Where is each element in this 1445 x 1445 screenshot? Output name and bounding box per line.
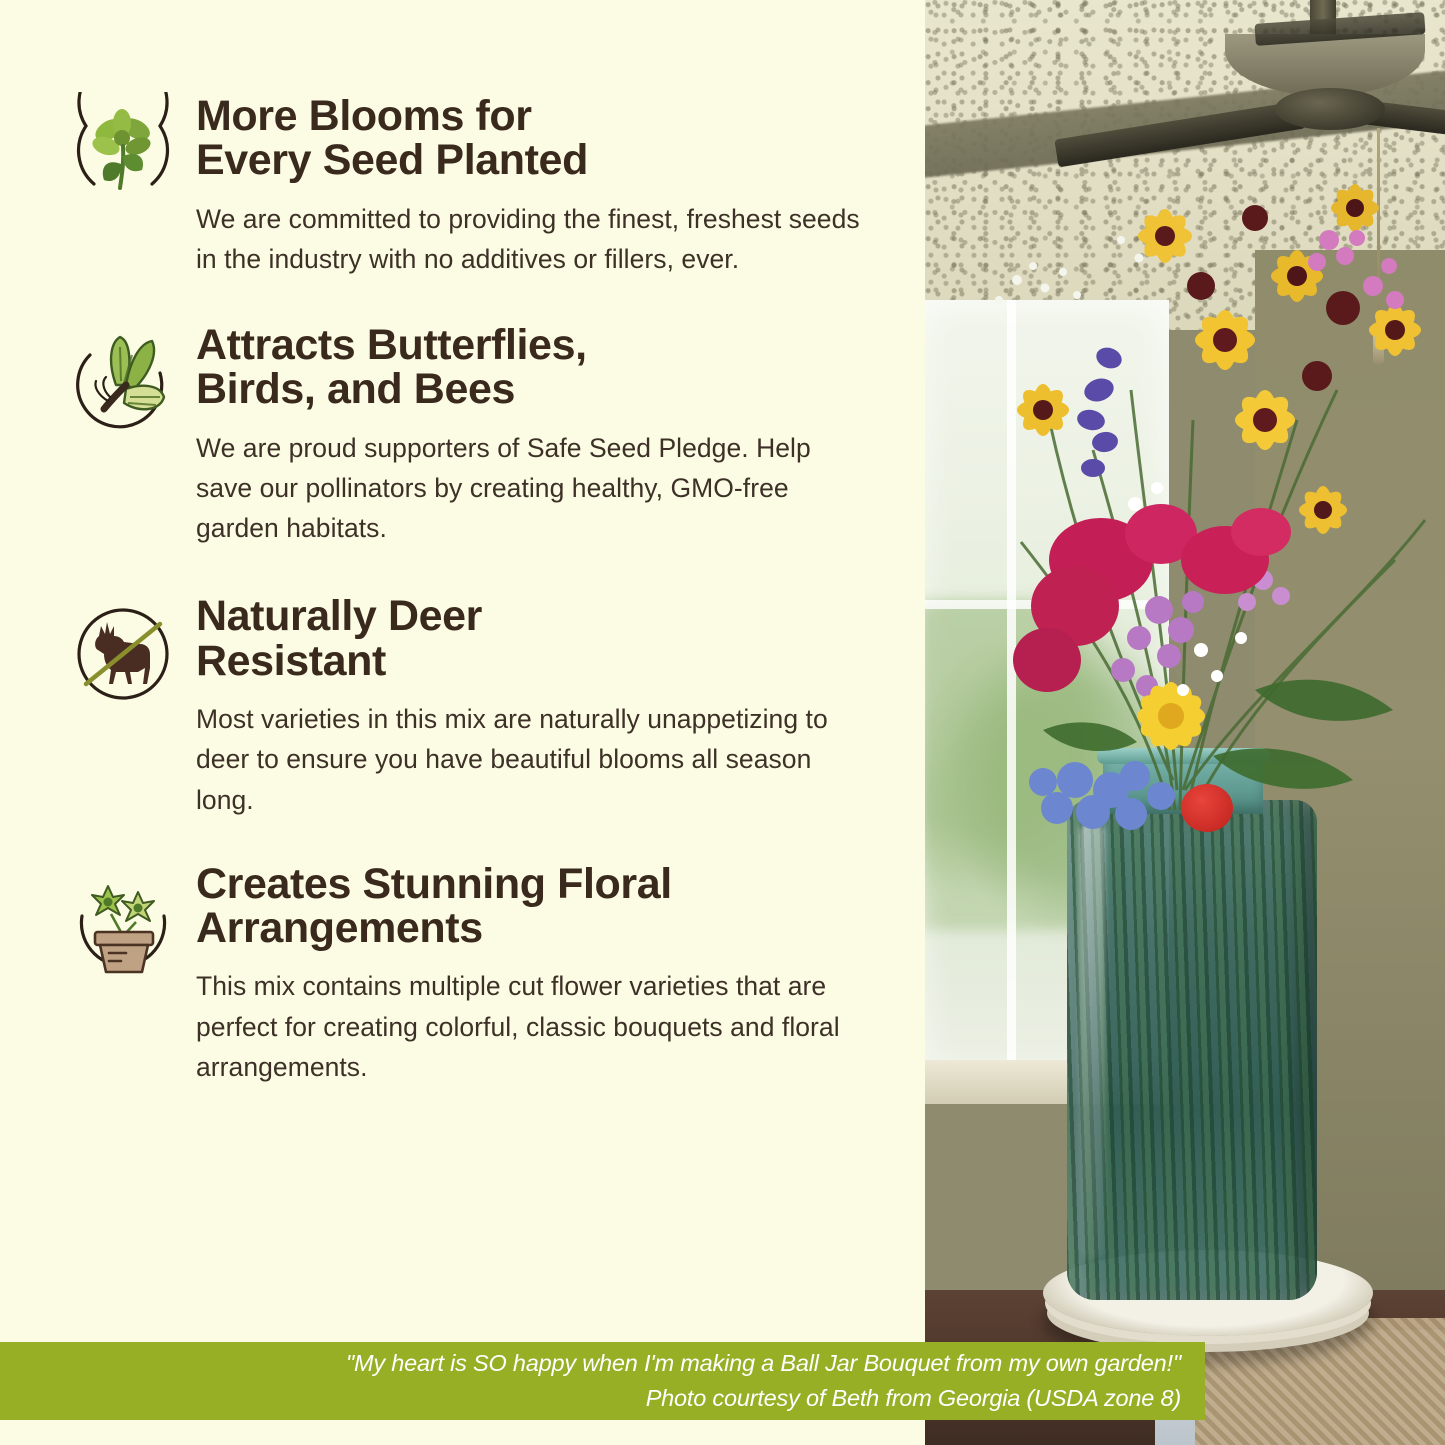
feature-text-block: More Blooms for Every Seed Planted We ar… <box>196 92 895 279</box>
butterfly-icon <box>64 321 182 445</box>
feature-title: Creates Stunning Floral Arrangements <box>196 862 895 951</box>
feature-list: More Blooms for Every Seed Planted We ar… <box>0 0 925 1445</box>
feature-title: Naturally Deer Resistant <box>196 594 895 683</box>
feature-item-deer-resistant: Naturally Deer Resistant Most varieties … <box>64 592 895 819</box>
product-feature-infographic: More Blooms for Every Seed Planted We ar… <box>0 0 1445 1445</box>
feature-body: Most varieties in this mix are naturally… <box>196 699 868 820</box>
feature-item-more-blooms: More Blooms for Every Seed Planted We ar… <box>64 92 895 279</box>
caption-quote: "My heart is SO happy when I'm making a … <box>346 1346 1181 1381</box>
no-deer-icon <box>64 592 182 716</box>
feature-text-block: Naturally Deer Resistant Most varieties … <box>196 592 895 819</box>
feature-title: Attracts Butterflies, Birds, and Bees <box>196 323 895 412</box>
bouquet-photograph <box>925 0 1445 1445</box>
feature-body: We are committed to providing the finest… <box>196 199 868 280</box>
caption-credit: Photo courtesy of Beth from Georgia (USD… <box>646 1381 1181 1416</box>
woven-placemat <box>1195 1318 1445 1445</box>
photo-caption-bar: "My heart is SO happy when I'm making a … <box>0 1342 1205 1420</box>
feature-text-block: Attracts Butterflies, Birds, and Bees We… <box>196 321 895 548</box>
red-carnation <box>1181 784 1233 832</box>
feature-body: We are proud supporters of Safe Seed Ple… <box>196 428 868 549</box>
feature-item-floral-arrangements: Creates Stunning Floral Arrangements Thi… <box>64 860 895 1087</box>
feature-text-block: Creates Stunning Floral Arrangements Thi… <box>196 860 895 1087</box>
potted-plant-icon <box>64 860 182 984</box>
jar-glass-highlight <box>1079 820 1105 1260</box>
ball-mason-jar <box>1067 800 1317 1300</box>
feature-item-attracts-pollinators: Attracts Butterflies, Birds, and Bees We… <box>64 321 895 548</box>
flower-sprout-icon <box>64 92 182 216</box>
feature-title: More Blooms for Every Seed Planted <box>196 94 895 183</box>
feature-body: This mix contains multiple cut flower va… <box>196 966 868 1087</box>
wildflower-bouquet <box>925 90 1445 830</box>
